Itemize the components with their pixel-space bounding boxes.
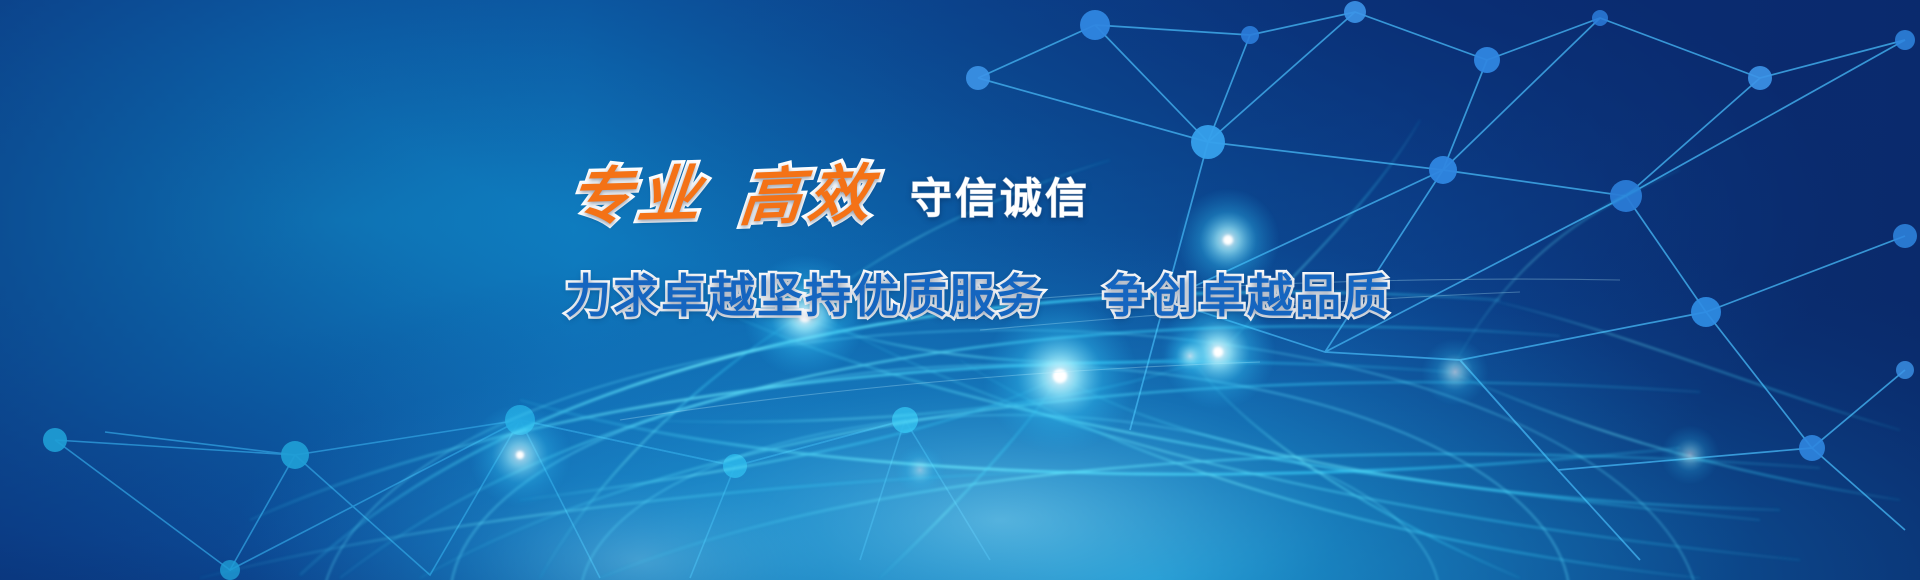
- glowing-globe-arcs: [0, 0, 1920, 580]
- banner-root: 专业 高效 守信诚信 力求卓越坚持优质服务 争创卓越品质: [0, 0, 1920, 580]
